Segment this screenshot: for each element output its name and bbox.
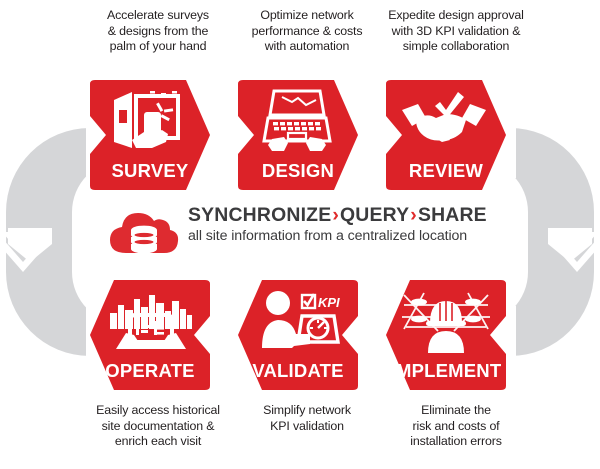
validate-caption: Simplify network KPI validation (234, 403, 380, 434)
operate-caption: Easily access historical site documentat… (84, 403, 232, 450)
step-label-operate: OPERATE (88, 360, 212, 382)
design-caption: Optimize network performance & costs wit… (234, 8, 380, 55)
handshake-checkmark-icon (402, 92, 486, 150)
banner-subtitle: all site information from a centralized … (188, 227, 508, 246)
chevron-right-icon-2: › (409, 204, 418, 226)
person-laptop-kpi-icon: KPI (258, 290, 340, 352)
banner-text-block: SYNCHRONIZE›QUERY›SHARE all site informa… (188, 203, 508, 246)
survey-caption: Accelerate surveys & designs from the pa… (84, 8, 232, 55)
step-label-implement: IMPLEMENT (384, 360, 508, 382)
step-label-validate: VALIDATE (236, 360, 360, 382)
chevron-right-icon-1: › (331, 204, 340, 226)
step-chip-operate[interactable]: OPERATE (88, 278, 212, 392)
laptop-hands-typing-icon (258, 89, 336, 153)
step-label-design: DESIGN (236, 160, 360, 182)
city-tablet-hands-icon (108, 291, 194, 351)
infographic-canvas: Accelerate surveys & designs from the pa… (0, 0, 600, 469)
step-chip-review[interactable]: REVIEW (384, 78, 508, 192)
svg-text:KPI: KPI (318, 295, 340, 310)
step-chip-survey[interactable]: SURVEY (88, 78, 212, 192)
implement-caption: Eliminate the risk and costs of installa… (380, 403, 532, 450)
synchronize-banner: SYNCHRONIZE›QUERY›SHARE all site informa… (108, 203, 508, 261)
review-caption: Expedite design approval with 3D KPI val… (380, 8, 532, 55)
building-hand-phone-icon (108, 90, 188, 152)
worker-hardhat-tower-icon (402, 291, 490, 353)
step-label-survey: SURVEY (88, 160, 212, 182)
banner-headline: SYNCHRONIZE›QUERY›SHARE (188, 203, 508, 227)
banner-word-query: QUERY (340, 204, 409, 226)
cloud-database-icon (108, 207, 180, 257)
step-chip-design[interactable]: DESIGN (236, 78, 360, 192)
banner-word-synchronize: SYNCHRONIZE (188, 204, 331, 226)
step-chip-implement[interactable]: IMPLEMENT (384, 278, 508, 392)
step-chip-validate[interactable]: KPI VALIDATE (236, 278, 360, 392)
banner-word-share: SHARE (418, 204, 487, 226)
step-label-review: REVIEW (384, 160, 508, 182)
